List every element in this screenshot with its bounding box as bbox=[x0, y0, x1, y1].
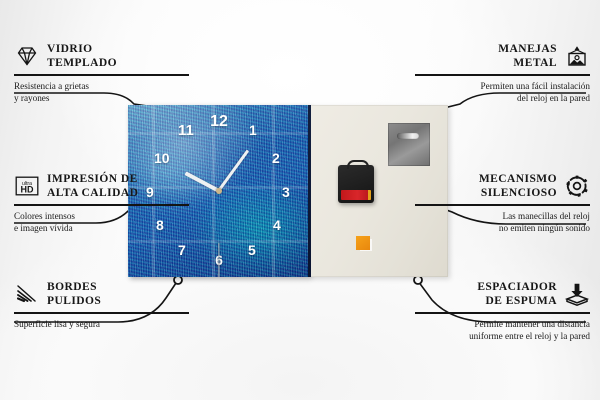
feature-title-line1: ESPACIADOR bbox=[477, 280, 557, 294]
feature-vidrio-templado: VIDRIO TEMPLADO Resistencia a grietas y … bbox=[14, 42, 189, 104]
clock-number-5: 5 bbox=[248, 243, 256, 257]
feature-bordes-pulidos: BORDES PULIDOS Superficie lisa y segura bbox=[14, 280, 189, 330]
feature-desc-line2: no emiten ningún sonido bbox=[415, 222, 590, 234]
feature-rule bbox=[14, 204, 189, 206]
feature-title-line1: BORDES bbox=[47, 280, 101, 294]
clock-number-4: 4 bbox=[273, 218, 281, 232]
gear-icon bbox=[564, 174, 590, 198]
feature-rule bbox=[415, 204, 590, 206]
infographic-canvas: 12 1 2 3 4 5 6 7 8 9 10 11 bbox=[0, 0, 600, 400]
feature-title-line1: MANEJAS bbox=[498, 42, 557, 56]
clock-number-12: 12 bbox=[210, 114, 228, 130]
clock-number-7: 7 bbox=[178, 243, 186, 257]
clock-center-cap bbox=[216, 188, 222, 194]
clock-number-9: 9 bbox=[146, 185, 154, 199]
metal-hanger-plate bbox=[388, 123, 430, 166]
foam-spacer-arrow-icon bbox=[564, 282, 590, 306]
feature-desc-line1: Resistencia a grietas bbox=[14, 80, 189, 92]
clock-number-11: 11 bbox=[178, 123, 194, 138]
wall-hanger-picture-icon bbox=[564, 44, 590, 68]
clock-hour-hand bbox=[185, 171, 220, 192]
clock-number-1: 1 bbox=[249, 123, 257, 137]
clock-number-10: 10 bbox=[154, 151, 170, 165]
feature-manejas-metal: MANEJAS METAL Permiten una fácil instala… bbox=[415, 42, 590, 104]
feature-title-line2: DE ESPUMA bbox=[477, 294, 557, 308]
clock-number-3: 3 bbox=[282, 185, 290, 199]
clock-side-edge bbox=[308, 105, 311, 277]
feature-rule bbox=[415, 74, 590, 76]
feature-desc-line1: Las manecillas del reloj bbox=[415, 210, 590, 222]
feature-desc-line1: Permiten una fácil instalación bbox=[415, 80, 590, 92]
feature-desc-line1: Permite mantener una distancia bbox=[415, 318, 590, 330]
feature-title-line1: MECANISMO bbox=[479, 172, 557, 186]
feature-desc-line2: uniforme entre el reloj y la pared bbox=[415, 330, 590, 342]
diamond-icon bbox=[14, 44, 40, 68]
feature-desc-line2: y rayones bbox=[14, 92, 189, 104]
feature-title-line2: PULIDOS bbox=[47, 294, 101, 308]
polished-edges-icon bbox=[14, 282, 40, 306]
clock-minute-hand bbox=[218, 150, 250, 192]
clock-number-2: 2 bbox=[272, 151, 280, 165]
hd-label: HD bbox=[21, 185, 34, 195]
feature-title-line2: ALTA CALIDAD bbox=[47, 186, 138, 200]
feature-title-line2: METAL bbox=[498, 56, 557, 70]
feature-title-line2: SILENCIOSO bbox=[479, 186, 557, 200]
feature-desc-line1: Superficie lisa y segura bbox=[14, 318, 189, 330]
feature-espaciador-espuma: ESPACIADOR DE ESPUMA Permite mantener un… bbox=[415, 280, 590, 342]
feature-title-line2: TEMPLADO bbox=[47, 56, 117, 70]
ultra-hd-icon: ultra HD bbox=[14, 174, 40, 198]
feature-title-line1: IMPRESIÓN DE bbox=[47, 172, 138, 186]
orange-foam-spacer bbox=[356, 236, 370, 250]
feature-rule bbox=[14, 74, 189, 76]
clock-movement-battery bbox=[338, 165, 374, 203]
feature-title-line1: VIDRIO bbox=[47, 42, 117, 56]
feature-desc-line2: del reloj en la pared bbox=[415, 92, 590, 104]
feature-rule bbox=[14, 312, 189, 314]
feature-rule bbox=[415, 312, 590, 314]
clock-number-8: 8 bbox=[156, 218, 164, 232]
feature-mecanismo-silencioso: MECANISMO SILENCIOSO Las m bbox=[415, 172, 590, 234]
